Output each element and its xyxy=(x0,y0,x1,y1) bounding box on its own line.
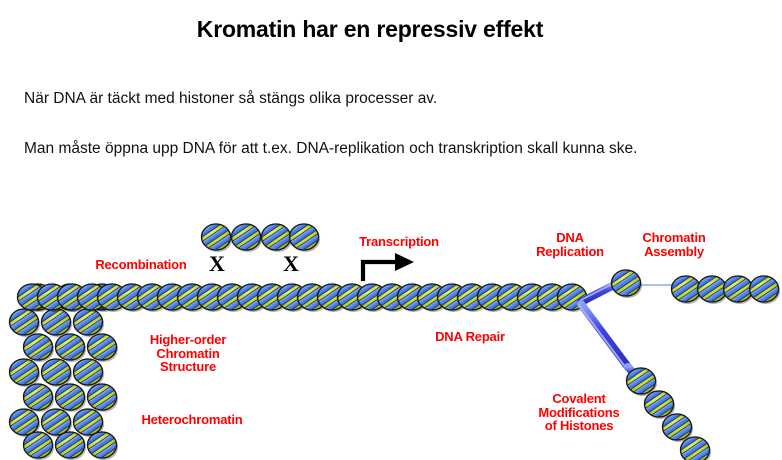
label-heterochromatin: Heterochromatin xyxy=(128,413,256,427)
body-text-line-1: När DNA är täckt med histoner så stängs … xyxy=(24,90,437,108)
crossover-mark-1: X xyxy=(209,253,225,275)
label-transcription: Transcription xyxy=(345,235,453,249)
label-chromatin-assembly: Chromatin Assembly xyxy=(625,231,723,258)
transcription-arrow-icon xyxy=(363,253,414,281)
label-covalent-modifications-of-histones: Covalent Modifications of Histones xyxy=(520,392,638,433)
label-higher-order-chromatin-structure: Higher-order Chromatin Structure xyxy=(128,333,248,374)
crossover-mark-2: X xyxy=(283,253,299,275)
page-title: Kromatin har en repressiv effekt xyxy=(0,16,740,43)
label-dna-replication: DNA Replication xyxy=(525,231,615,258)
chromatin-processes-diagram: Recombination X X Transcription DNA Repl… xyxy=(0,205,782,460)
body-text-line-2: Man måste öppna upp DNA för att t.ex. DN… xyxy=(24,140,637,158)
label-dna-repair: DNA Repair xyxy=(420,330,520,344)
chromatin-assembly-strand xyxy=(599,259,782,311)
label-recombination: Recombination xyxy=(86,258,196,272)
